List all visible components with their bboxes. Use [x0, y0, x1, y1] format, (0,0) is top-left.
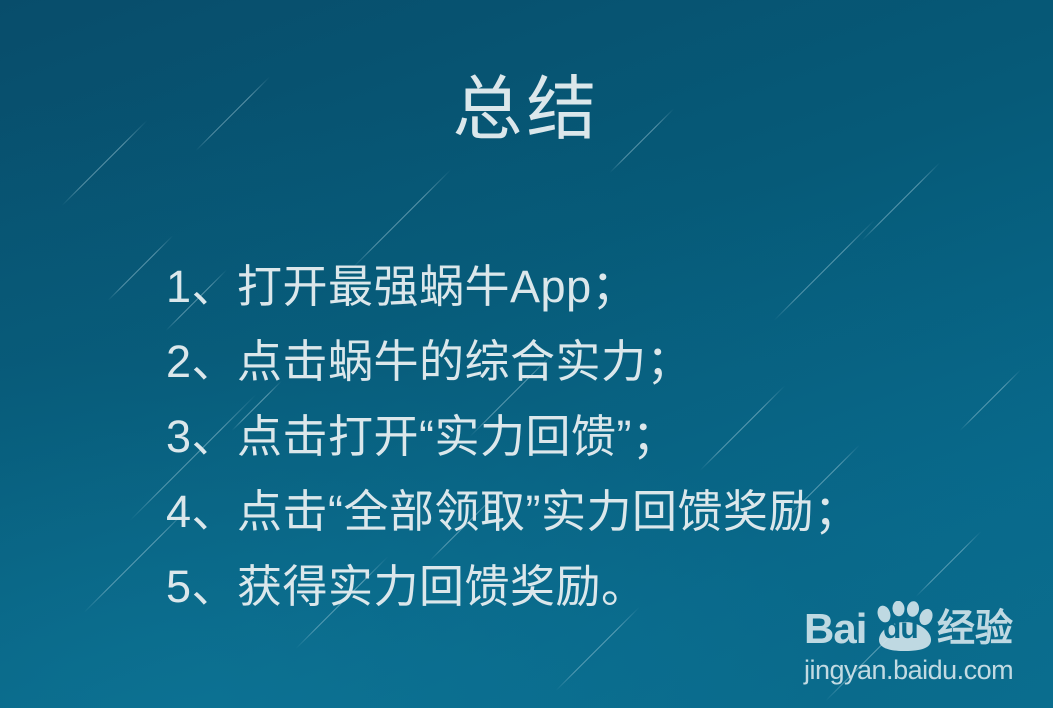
watermark-logo: Bai du 经验	[804, 600, 1019, 652]
list-item: 4、点击“全部领取”实力回馈奖励；	[166, 474, 860, 549]
watermark-brand-bai: Bai	[804, 608, 866, 650]
streak-line	[960, 369, 1022, 431]
streak-line	[916, 531, 982, 597]
streak-line	[862, 162, 940, 240]
streak-line	[108, 235, 174, 301]
list-item: 3、点击打开“实力回馈”；	[166, 399, 860, 474]
baidu-jingyan-watermark: Bai du 经验 jingyan.baidu.com	[804, 600, 1019, 692]
list-item: 1、打开最强蜗牛App；	[166, 249, 860, 324]
summary-step-list: 1、打开最强蜗牛App； 2、点击蜗牛的综合实力； 3、点击打开“实力回馈”； …	[166, 249, 860, 624]
list-item: 5、获得实力回馈奖励。	[166, 549, 860, 624]
page-title: 总结	[0, 74, 1053, 144]
presentation-slide: 总结 1、打开最强蜗牛App； 2、点击蜗牛的综合实力； 3、点击打开“实力回馈…	[0, 0, 1053, 708]
watermark-brand-cn: 经验	[937, 609, 1013, 649]
watermark-brand-du: du	[883, 614, 918, 644]
list-item: 2、点击蜗牛的综合实力；	[166, 324, 860, 399]
watermark-url: jingyan.baidu.com	[804, 655, 1013, 685]
